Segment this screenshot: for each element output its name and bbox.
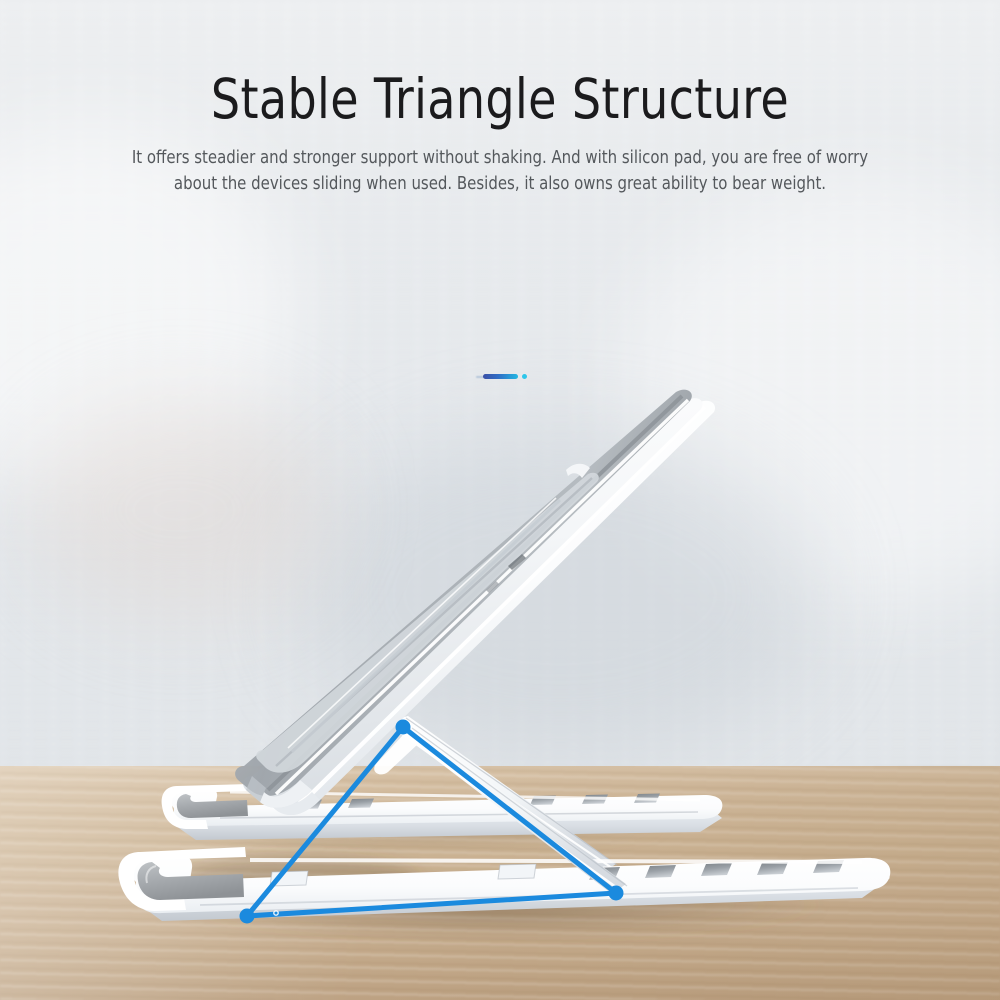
laptop-device <box>235 390 702 808</box>
page-subtitle: It offers steadier and stronger support … <box>111 145 890 197</box>
triangle-vertex-apex <box>396 720 411 735</box>
page-title: Stable Triangle Structure <box>35 68 965 130</box>
triangle-vertex-bottom-left <box>240 909 255 924</box>
product-marketing-image: Stable Triangle Structure It offers stea… <box>0 0 1000 1000</box>
triangle-vertex-bottom-right <box>609 886 624 901</box>
rear-base-rail <box>162 784 723 840</box>
